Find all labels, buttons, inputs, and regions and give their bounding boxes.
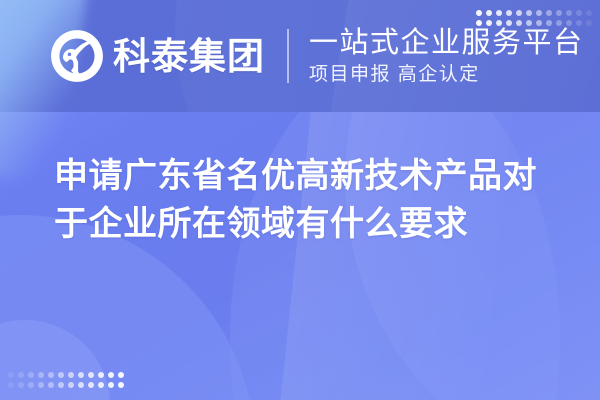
decorative-dot [546, 20, 552, 26]
decorative-dot [486, 10, 492, 16]
decorative-dot [108, 382, 114, 388]
ketai-satellite-logo-icon[interactable] [50, 29, 104, 83]
decorative-dot [88, 382, 94, 388]
decorative-dot [506, 20, 512, 26]
decorative-dot [38, 372, 44, 378]
decorative-dot [48, 382, 54, 388]
decorative-dot [576, 10, 582, 16]
brand-name: 科泰集团 [113, 38, 265, 75]
decorative-dot [496, 10, 502, 16]
decorative-dot [526, 10, 532, 16]
decorative-dot [8, 372, 14, 378]
decorative-dot [556, 10, 562, 16]
decorative-dot [516, 10, 522, 16]
decorative-dot [506, 10, 512, 16]
decorative-dot [586, 10, 592, 16]
decorative-dot [98, 382, 104, 388]
decorative-dot [118, 372, 124, 378]
decorative-dot [536, 20, 542, 26]
decorative-dot [566, 10, 572, 16]
slogan-sub: 项目申报 高企认定 [309, 65, 584, 84]
decorative-dot [58, 382, 64, 388]
decorative-dot [118, 382, 124, 388]
page-title: 申请广东省名优高新技术产品对于企业所在领域有什么要求 [54, 152, 554, 249]
dot-grid-bottom-left [8, 372, 124, 388]
decorative-dot [28, 372, 34, 378]
decorative-dot [108, 372, 114, 378]
decorative-dot [8, 382, 14, 388]
decorative-dot [586, 20, 592, 26]
decorative-dot [476, 10, 482, 16]
dot-grid-top-right [476, 10, 592, 26]
decorative-dot [28, 382, 34, 388]
decorative-dot [18, 372, 24, 378]
decorative-dot [98, 372, 104, 378]
decorative-dot [18, 382, 24, 388]
slogan-main: 一站式企业服务平台 [309, 29, 584, 58]
decorative-dot [576, 20, 582, 26]
decorative-dot [58, 372, 64, 378]
decorative-dot [556, 20, 562, 26]
decorative-dot [476, 20, 482, 26]
decorative-dot [516, 20, 522, 26]
decorative-dot [78, 382, 84, 388]
decorative-dot [566, 20, 572, 26]
article-cover-banner: 科泰集团 一站式企业服务平台 项目申报 高企认定 申请广东省名优高新技术产品对于… [0, 0, 600, 400]
decorative-dot [526, 20, 532, 26]
decorative-dot [68, 382, 74, 388]
decorative-dot [38, 382, 44, 388]
decorative-dot [486, 20, 492, 26]
slogan-block: 一站式企业服务平台 项目申报 高企认定 [309, 29, 584, 84]
decorative-dot [496, 20, 502, 26]
background-circle-bottom-left-small [0, 320, 110, 400]
decorative-dot [48, 372, 54, 378]
decorative-dot [68, 372, 74, 378]
decorative-dot [546, 10, 552, 16]
brand-divider [287, 29, 289, 83]
decorative-dot [88, 372, 94, 378]
decorative-dot [78, 372, 84, 378]
decorative-dot [536, 10, 542, 16]
